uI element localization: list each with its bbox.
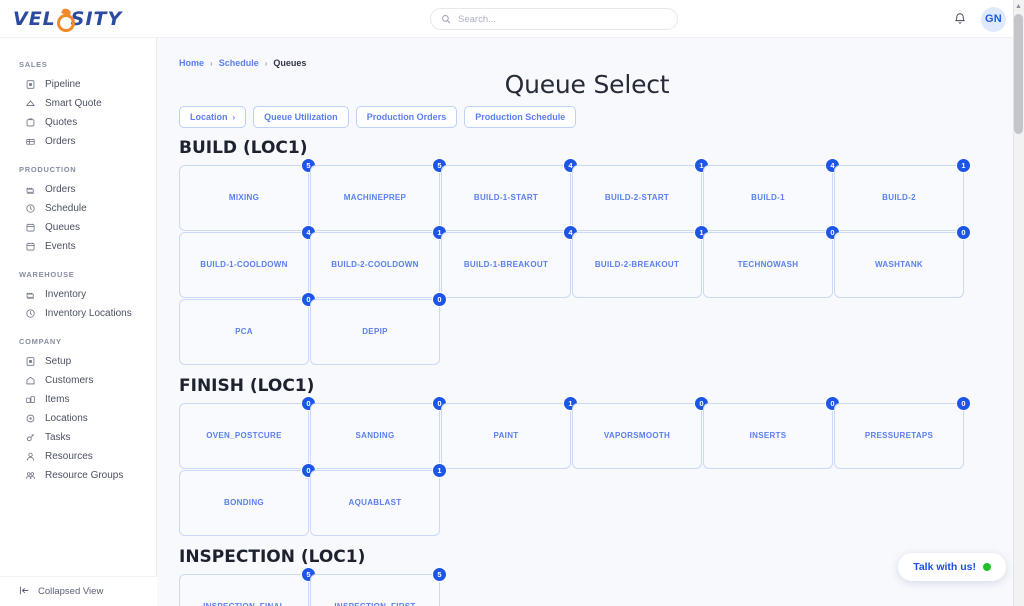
orders-icon [25,136,36,147]
breadcrumb-separator: › [265,59,268,68]
queue-card[interactable]: BUILD-1-COOLDOWN4 [179,232,309,298]
queue-card[interactable]: TECHNOWASH0 [703,232,833,298]
queue-card[interactable]: INSPECTION_FIRST5 [310,574,440,606]
sidebar-item-resources[interactable]: Resources [0,447,156,466]
queue-card-label: MACHINEPREP [338,193,412,203]
queue-card[interactable]: SANDING0 [310,403,440,469]
app-logo[interactable]: VELSITY [0,0,157,38]
sidebar-item-pipeline[interactable]: Pipeline [0,75,156,94]
scroll-up-arrow[interactable]: ▲ [1014,1,1023,12]
queue-grid: INSPECTION_FINAL5INSPECTION_FIRST5 [179,574,965,606]
search-input[interactable] [458,14,667,25]
bell-icon[interactable] [953,12,967,26]
queue-card-label: BUILD-1-START [468,193,544,203]
queue-card[interactable]: WASHTANK0 [834,232,964,298]
sidebar-item-setup[interactable]: Setup [0,352,156,371]
sidebar-group-label: COMPANY [0,337,156,352]
queue-card[interactable]: PRESSURETAPS0 [834,403,964,469]
production-orders-icon [25,184,36,195]
queue-grid: MIXING5MACHINEPREP5BUILD-1-START4BUILD-2… [179,165,965,366]
header-actions: GN [953,0,1006,38]
breadcrumb-separator: › [210,59,213,68]
queue-card[interactable]: BUILD-21 [834,165,964,231]
sidebar-item-label: Smart Quote [45,98,102,109]
sidebar-group-production: PRODUCTIONOrdersScheduleQueuesEvents [0,165,156,256]
page-scrollbar[interactable]: ▲ [1013,0,1024,606]
sidebar-item-label: Setup [45,356,71,367]
sidebar-item-label: Queues [45,222,80,233]
customers-icon [25,375,36,386]
queue-card-label: BUILD-1-COOLDOWN [194,260,293,270]
queue-card-label: INSERTS [744,431,793,441]
queue-section: FINISH (LOC1)OVEN_POSTCURE0SANDING0PAINT… [157,376,1017,537]
sidebar-item-locations[interactable]: Locations [0,409,156,428]
queue-card[interactable]: DEPIP0 [310,299,440,365]
queue-count-badge: 0 [956,225,971,240]
filter-button-label: Location [190,112,228,122]
queue-card[interactable]: OVEN_POSTCURE0 [179,403,309,469]
queue-card-label: BONDING [218,498,270,508]
tasks-icon [25,432,36,443]
sidebar-item-items[interactable]: Items [0,390,156,409]
queue-card[interactable]: PCA0 [179,299,309,365]
queue-card-label: BUILD-2 [876,193,922,203]
section-title: BUILD (LOC1) [179,138,1017,158]
sidebar-item-label: Events [45,241,76,252]
breadcrumb-item-queues: Queues [273,58,306,68]
filter-button-label: Queue Utilization [264,112,338,122]
filter-toolbar: Location›Queue UtilizationProduction Ord… [157,99,1017,128]
breadcrumb-item-home[interactable]: Home [179,58,204,68]
search-icon [441,14,451,24]
queue-card-label: OVEN_POSTCURE [200,431,287,441]
queue-count-badge: 5 [432,567,447,582]
queue-card[interactable]: PAINT1 [441,403,571,469]
clock-icon [25,203,36,214]
sidebar-group-label: WAREHOUSE [0,270,156,285]
queue-card[interactable]: VAPORSMOOTH0 [572,403,702,469]
collapse-label: Collapsed View [38,586,103,597]
sidebar-item-label: Resources [45,451,93,462]
chat-label: Talk with us! [913,561,976,573]
sidebar-item-label: Customers [45,375,93,386]
breadcrumb-item-schedule[interactable]: Schedule [219,58,259,68]
queue-card-label: TECHNOWASH [732,260,805,270]
sidebar-item-quotes[interactable]: Quotes [0,113,156,132]
queue-card-label: VAPORSMOOTH [598,431,676,441]
chevron-right-icon: › [233,113,236,122]
sidebar-item-label: Orders [45,184,76,195]
scrollbar-thumb[interactable] [1014,14,1023,134]
resource-groups-icon [25,470,36,481]
chat-status-dot [983,563,991,571]
queue-card[interactable]: BUILD-2-BREAKOUT1 [572,232,702,298]
smart-quote-icon [25,98,36,109]
queue-card-label: DEPIP [356,327,394,337]
queue-card[interactable]: BONDING0 [179,470,309,536]
queue-section: INSPECTION (LOC1)INSPECTION_FINAL5INSPEC… [157,547,1017,606]
filter-button-production-orders[interactable]: Production Orders [356,106,458,128]
queue-grid: OVEN_POSTCURE0SANDING0PAINT1VAPORSMOOTH0… [179,403,965,537]
sidebar-item-label: Quotes [45,117,77,128]
sidebar-item-label: Inventory Locations [45,308,132,319]
queue-count-badge: 1 [432,463,447,478]
queue-card-label: MIXING [223,193,265,203]
collapse-sidebar-button[interactable]: Collapsed View [0,576,157,606]
sidebar-item-tasks[interactable]: Tasks [0,428,156,447]
filter-button-label: Production Orders [367,112,447,122]
resources-icon [25,451,36,462]
queue-card[interactable]: BUILD-1-START4 [441,165,571,231]
queue-card[interactable]: INSPECTION_FINAL5 [179,574,309,606]
sidebar-group-company: COMPANYSetupCustomersItemsLocationsTasks… [0,337,156,485]
setup-icon [25,356,36,367]
queue-card-label: INSPECTION_FIRST [328,602,421,606]
queue-count-badge: 0 [956,396,971,411]
queue-card-label: AQUABLAST [343,498,408,508]
top-bar: VELSITY GN [0,0,1024,38]
queue-card[interactable]: MIXING5 [179,165,309,231]
main-content: Home›Schedule›Queues Queue Select Locati… [157,38,1017,606]
queue-card[interactable]: AQUABLAST1 [310,470,440,536]
queue-card[interactable]: BUILD-1-BREAKOUT4 [441,232,571,298]
queue-card-label: PRESSURETAPS [859,431,939,441]
queue-count-badge: 0 [432,292,447,307]
sidebar-item-label: Items [45,394,69,405]
sidebar-item-smart-quote[interactable]: Smart Quote [0,94,156,113]
queue-count-badge: 1 [956,158,971,173]
inventory-icon [25,289,36,300]
sidebar-item-inventory[interactable]: Inventory [0,285,156,304]
sidebar-group-sales: SALESPipelineSmart QuoteQuotesOrders [0,60,156,151]
sidebar-item-queues[interactable]: Queues [0,218,156,237]
logo-text: VELSITY [13,8,122,30]
queue-card-label: PCA [229,327,259,337]
sidebar-item-schedule[interactable]: Schedule [0,199,156,218]
queue-card-label: SANDING [350,431,401,441]
sidebar-group-label: PRODUCTION [0,165,156,180]
page-title: Queue Select [157,70,1017,99]
sidebar-group-label: SALES [0,60,156,75]
sidebar-item-label: Inventory [45,289,86,300]
sidebar-item-orders[interactable]: Orders [0,132,156,151]
filter-button-location[interactable]: Location› [179,106,246,128]
collapse-icon [19,585,30,599]
queue-section: BUILD (LOC1)MIXING5MACHINEPREP5BUILD-1-S… [157,138,1017,366]
sidebar-item-label: Locations [45,413,88,424]
logo-text-before: VEL [13,8,56,30]
queue-card[interactable]: BUILD-14 [703,165,833,231]
logo-orbit-icon [56,12,71,27]
queue-card-label: BUILD-2-START [599,193,675,203]
queue-card-label: INSPECTION_FINAL [197,602,291,606]
sidebar-item-label: Tasks [45,432,71,443]
items-icon [25,394,36,405]
pipeline-icon [25,79,36,90]
sidebar-item-label: Resource Groups [45,470,123,481]
sidebar-item-inventory-locations[interactable]: Inventory Locations [0,304,156,323]
queue-card-label: BUILD-1-BREAKOUT [458,260,554,270]
chat-widget[interactable]: Talk with us! [898,553,1006,581]
sidebar-item-orders[interactable]: Orders [0,180,156,199]
section-title: FINISH (LOC1) [179,376,1017,396]
sidebar-item-label: Pipeline [45,79,81,90]
locations-icon [25,413,36,424]
sidebar-item-customers[interactable]: Customers [0,371,156,390]
sidebar: SALESPipelineSmart QuoteQuotesOrdersPROD… [0,38,157,606]
filter-button-production-schedule[interactable]: Production Schedule [464,106,576,128]
queue-card-label: BUILD-2-BREAKOUT [589,260,685,270]
filter-button-queue-utilization[interactable]: Queue Utilization [253,106,349,128]
queue-card-label: BUILD-1 [745,193,791,203]
filter-button-label: Production Schedule [475,112,565,122]
queue-card[interactable]: MACHINEPREP5 [310,165,440,231]
sidebar-item-events[interactable]: Events [0,237,156,256]
sidebar-item-resource-groups[interactable]: Resource Groups [0,466,156,485]
avatar[interactable]: GN [981,7,1006,32]
sidebar-group-warehouse: WAREHOUSEInventoryInventory Locations [0,270,156,323]
calendar-icon [25,241,36,252]
quotes-icon [25,117,36,128]
queue-card[interactable]: INSERTS0 [703,403,833,469]
logo-text-after: SITY [71,8,122,30]
queue-card-label: WASHTANK [869,260,929,270]
sidebar-item-label: Orders [45,136,76,147]
queue-card[interactable]: BUILD-2-COOLDOWN1 [310,232,440,298]
section-title: INSPECTION (LOC1) [179,547,1017,567]
breadcrumb: Home›Schedule›Queues [157,38,1017,68]
calendar-icon [25,222,36,233]
queue-card-label: BUILD-2-COOLDOWN [325,260,424,270]
clock-icon [25,308,36,319]
queue-card-label: PAINT [488,431,525,441]
search-box[interactable] [430,8,678,30]
sidebar-item-label: Schedule [45,203,87,214]
queue-card[interactable]: BUILD-2-START1 [572,165,702,231]
